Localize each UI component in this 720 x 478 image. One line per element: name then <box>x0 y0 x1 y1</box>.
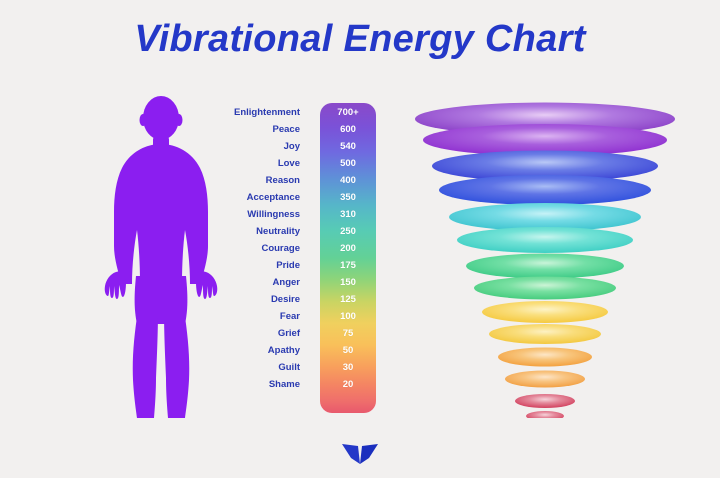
value-row: 30 <box>320 359 376 376</box>
label-row: Guilt <box>206 359 306 376</box>
funnel-disc <box>474 277 616 300</box>
funnel-disc <box>439 175 651 205</box>
value-row: 500 <box>320 155 376 172</box>
funnel-disc <box>482 301 608 323</box>
value-row: 250 <box>320 223 376 240</box>
energy-scale-bar: 700+ 600 540 500 400 350 310 250 200 175… <box>320 103 376 413</box>
label-row: Anger <box>206 274 306 291</box>
funnel-disc <box>466 254 624 279</box>
label-row: Enlightenment <box>206 104 306 121</box>
funnel-disc <box>498 348 592 367</box>
value-row: 310 <box>320 206 376 223</box>
page-title: Vibrational Energy Chart <box>0 18 720 61</box>
funnel-disc <box>526 411 564 418</box>
funnel-disc <box>449 203 641 231</box>
value-row: 600 <box>320 121 376 138</box>
value-row: 200 <box>320 240 376 257</box>
label-row: Joy <box>206 138 306 155</box>
funnel-disc <box>515 394 575 408</box>
value-row: 125 <box>320 291 376 308</box>
value-row: 540 <box>320 138 376 155</box>
value-row: 150 <box>320 274 376 291</box>
label-row: Reason <box>206 172 306 189</box>
value-row: 75 <box>320 325 376 342</box>
label-row: Shame <box>206 376 306 393</box>
chart-canvas: Vibrational Energy Chart Enlightenme <box>0 0 720 478</box>
label-row: Neutrality <box>206 223 306 240</box>
energy-funnel <box>400 98 690 418</box>
value-row: 50 <box>320 342 376 359</box>
value-row: 350 <box>320 189 376 206</box>
label-row: Desire <box>206 291 306 308</box>
value-row: 400 <box>320 172 376 189</box>
value-row: 20 <box>320 376 376 393</box>
label-row: Apathy <box>206 342 306 359</box>
funnel-disc <box>489 324 601 344</box>
funnel-disc <box>457 227 633 253</box>
butterfly-wings-logo-icon <box>340 441 380 467</box>
funnel-disc <box>505 371 585 388</box>
consciousness-label-column: Enlightenment Peace Joy Love Reason Acce… <box>206 104 306 393</box>
label-row: Grief <box>206 325 306 342</box>
value-row: 100 <box>320 308 376 325</box>
label-row: Peace <box>206 121 306 138</box>
label-row: Pride <box>206 257 306 274</box>
label-row: Fear <box>206 308 306 325</box>
label-row: Acceptance <box>206 189 306 206</box>
label-row: Willingness <box>206 206 306 223</box>
value-column: 700+ 600 540 500 400 350 310 250 200 175… <box>320 103 376 393</box>
label-row: Love <box>206 155 306 172</box>
label-row: Courage <box>206 240 306 257</box>
value-row: 700+ <box>320 104 376 121</box>
value-row: 175 <box>320 257 376 274</box>
